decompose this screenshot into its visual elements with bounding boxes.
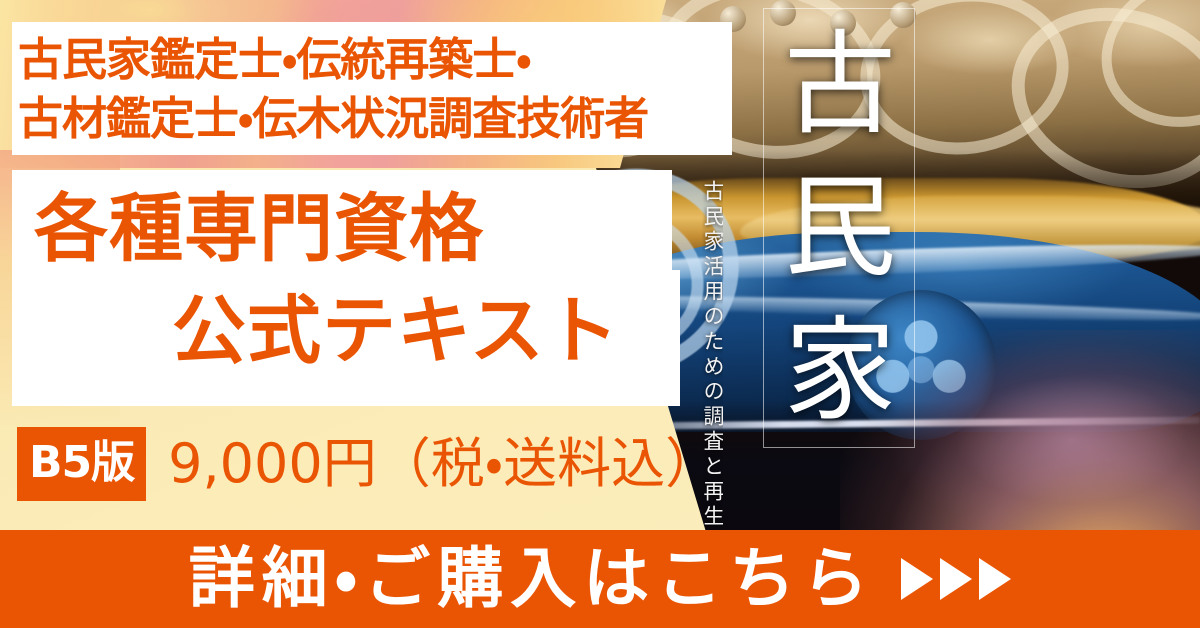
qualifications-text: 古民家鑑定士・伝統再築士・ 古材鑑定士・伝木状況調査技術者 [18, 26, 730, 152]
chevron-right-icon [979, 558, 1011, 600]
format-badge: B5版 [17, 427, 146, 501]
cta-arrows [901, 558, 1011, 600]
cover-title-char-1: 古 [784, 30, 896, 142]
qualification-line-1: 古民家鑑定士・伝統再築士・ [18, 30, 730, 89]
cover-title-char-2: 民 [784, 173, 896, 285]
promo-banner: 古 民 家 伝統構法、 古民家活用のための調査と再生の 古民家鑑定士・伝統再築士… [0, 0, 1200, 628]
cta-label: 詳細・ご購入はこちら [189, 546, 875, 612]
qualification-line-2: 古材鑑定士・伝木状況調査技術者 [18, 89, 730, 148]
headline-line-1: 各種専門資格 [34, 186, 484, 273]
cta-bar[interactable]: 詳細・ご購入はこちら [0, 530, 1200, 628]
chevron-right-icon [940, 558, 972, 600]
cover-title: 古 民 家 [770, 14, 910, 444]
cover-title-char-3: 家 [784, 316, 896, 428]
photo-purple-glow [890, 340, 1200, 540]
headline-text: 各種専門資格 公式テキスト [12, 176, 680, 400]
price-text: 9,000円（税・送料込） [168, 437, 719, 491]
headline-line-2: 公式テキスト [172, 288, 620, 375]
chevron-right-icon [901, 558, 933, 600]
price-row: B5版 9,000円（税・送料込） [17, 428, 719, 500]
